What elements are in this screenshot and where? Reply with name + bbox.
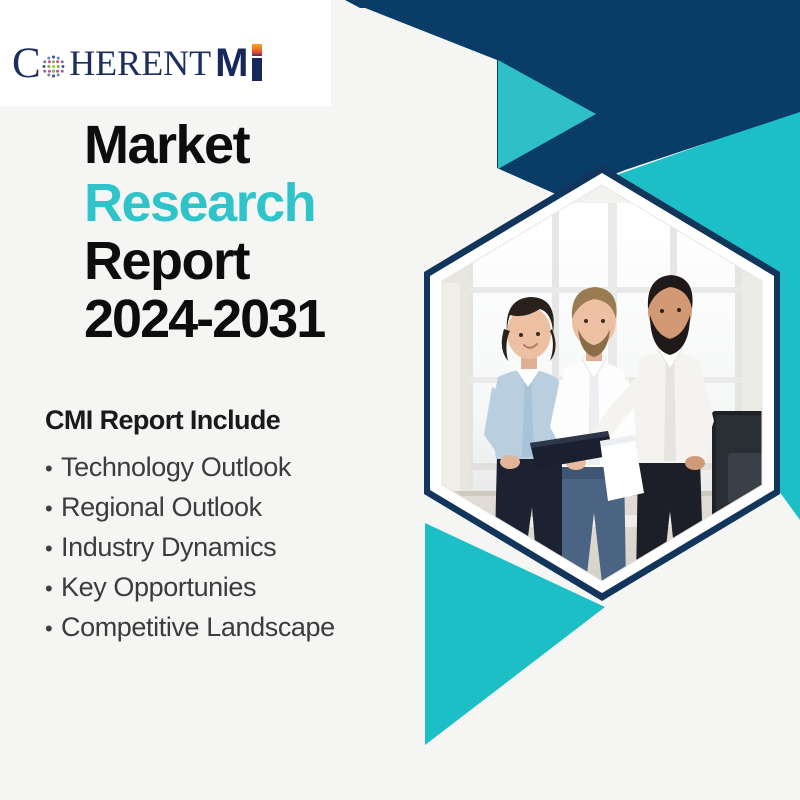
headline-line-report: Report <box>84 232 424 290</box>
logo-word-herent: HERENT <box>69 45 211 81</box>
page-title: Market Research Report 2024-2031 <box>84 116 424 348</box>
navy-banner-top-edge <box>345 0 800 8</box>
includes-heading: CMI Report Include <box>45 406 445 436</box>
list-item: • Key Opportunies <box>45 568 445 608</box>
globe-dot-matrix-icon <box>40 53 67 80</box>
list-item-label: Regional Outlook <box>61 488 262 527</box>
bullet-icon: • <box>45 529 61 568</box>
list-item: • Technology Outlook <box>45 448 445 488</box>
report-includes-section: CMI Report Include • Technology Outlook … <box>45 406 445 648</box>
bullet-icon: • <box>45 609 61 648</box>
list-item-label: Competitive Landscape <box>61 608 335 647</box>
coherentmi-logo[interactable]: C <box>12 40 263 86</box>
photo-content <box>412 163 792 603</box>
bullet-icon: • <box>45 449 61 488</box>
bullet-icon: • <box>45 569 61 608</box>
market-research-report-poster: C <box>0 0 800 800</box>
list-item: • Competitive Landscape <box>45 608 445 648</box>
logo-i-gradient-dot <box>252 44 262 56</box>
list-item-label: Industry Dynamics <box>61 528 276 567</box>
headline-line-years: 2024-2031 <box>84 290 424 348</box>
logo-i-stem <box>252 58 262 81</box>
includes-list: • Technology Outlook • Regional Outlook … <box>45 448 445 648</box>
logo-letter-c: C <box>12 42 40 85</box>
logo-letter-i <box>250 41 263 85</box>
list-item-label: Key Opportunies <box>61 568 256 607</box>
headline-line-research: Research <box>84 174 424 232</box>
logo-letter-m: M <box>215 43 247 83</box>
list-item-label: Technology Outlook <box>61 448 291 487</box>
list-item: • Regional Outlook <box>45 488 445 528</box>
headline-line-market: Market <box>84 116 424 174</box>
bullet-icon: • <box>45 489 61 528</box>
list-item: • Industry Dynamics <box>45 528 445 568</box>
hexagon-photo-frame <box>412 163 792 603</box>
